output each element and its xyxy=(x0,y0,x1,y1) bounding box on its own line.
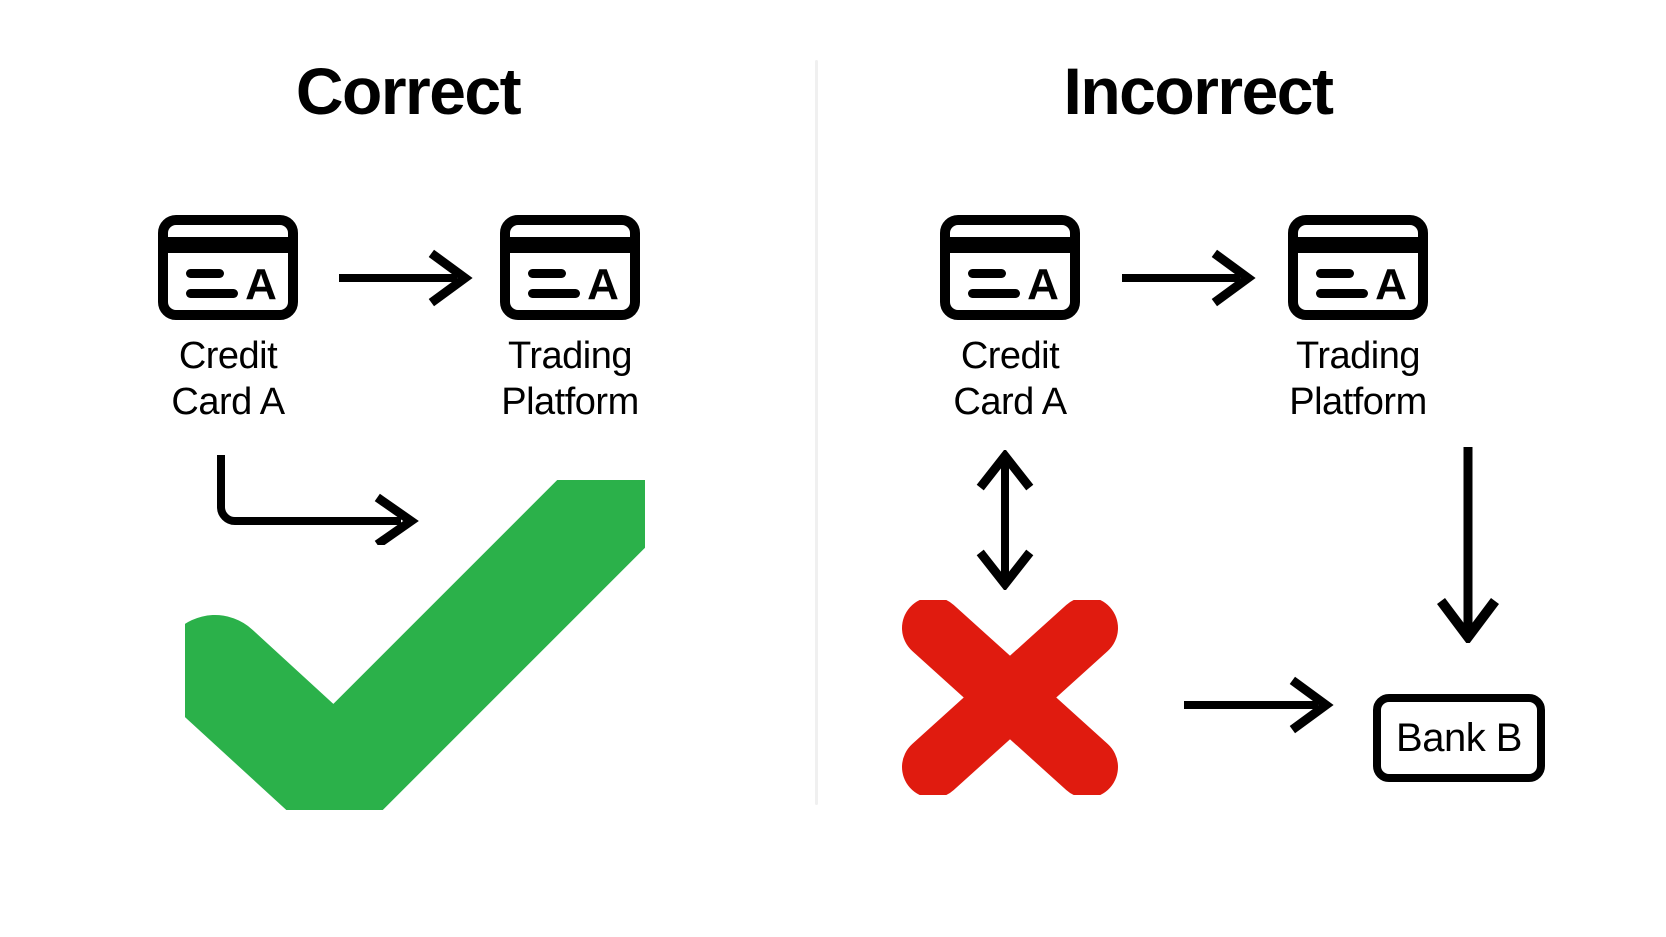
panel-divider xyxy=(815,60,818,805)
credit-card-icon: A xyxy=(158,215,298,320)
node-incorrect-credit-card-a: A Credit Card A xyxy=(900,215,1120,425)
credit-card-icon: A xyxy=(1288,215,1428,320)
diagram-canvas: Correct Incorrect A Credit Card A A Trad… xyxy=(0,0,1666,937)
credit-card-icon: A xyxy=(940,215,1080,320)
cross-icon xyxy=(895,600,1125,795)
node-incorrect-bank-b: Bank B xyxy=(1373,694,1545,782)
node-caption: Credit Card A xyxy=(900,334,1120,425)
svg-text:A: A xyxy=(587,260,619,309)
node-caption: Trading Platform xyxy=(1248,334,1468,425)
svg-text:A: A xyxy=(245,260,277,309)
node-incorrect-trading-platform: A Trading Platform xyxy=(1248,215,1468,425)
node-caption: Trading Platform xyxy=(460,334,680,425)
svg-text:A: A xyxy=(1027,260,1059,309)
node-correct-credit-card-a: A Credit Card A xyxy=(118,215,338,425)
panel-title-incorrect: Incorrect xyxy=(790,58,1606,124)
credit-card-icon: A xyxy=(500,215,640,320)
arrow-right-icon xyxy=(1118,248,1268,308)
node-caption: Credit Card A xyxy=(118,334,338,425)
arrow-right-icon xyxy=(1180,675,1350,735)
check-icon xyxy=(185,480,645,810)
svg-text:A: A xyxy=(1375,260,1407,309)
node-correct-trading-platform: A Trading Platform xyxy=(460,215,680,425)
node-caption: Bank B xyxy=(1396,716,1522,761)
arrow-up-down-icon xyxy=(965,450,1045,590)
arrow-down-icon xyxy=(1428,443,1508,643)
panel-title-correct: Correct xyxy=(0,58,816,124)
